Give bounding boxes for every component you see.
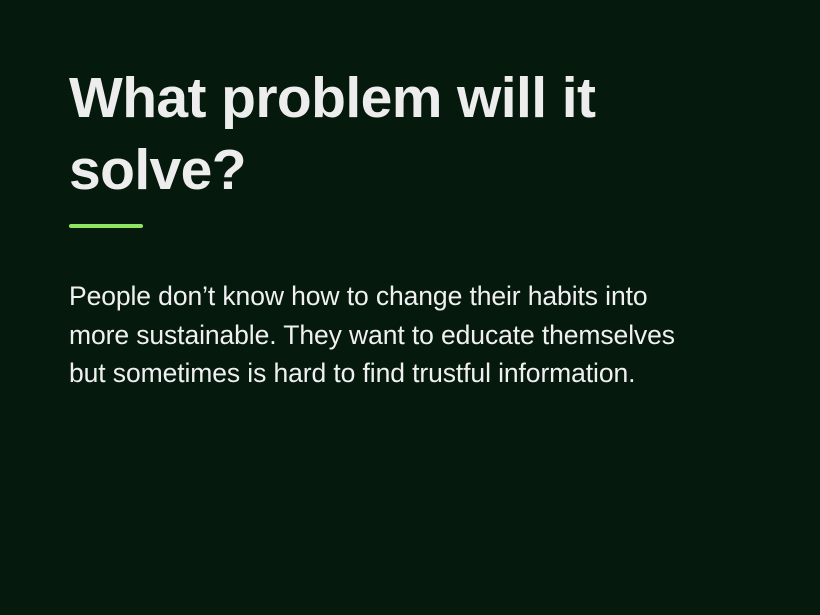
slide-canvas: What problem will it solve? People don’t… — [0, 0, 820, 615]
body-paragraph: People don’t know how to change their ha… — [69, 277, 694, 393]
page-title: What problem will it solve? — [69, 62, 669, 206]
accent-rule-divider — [69, 224, 143, 228]
